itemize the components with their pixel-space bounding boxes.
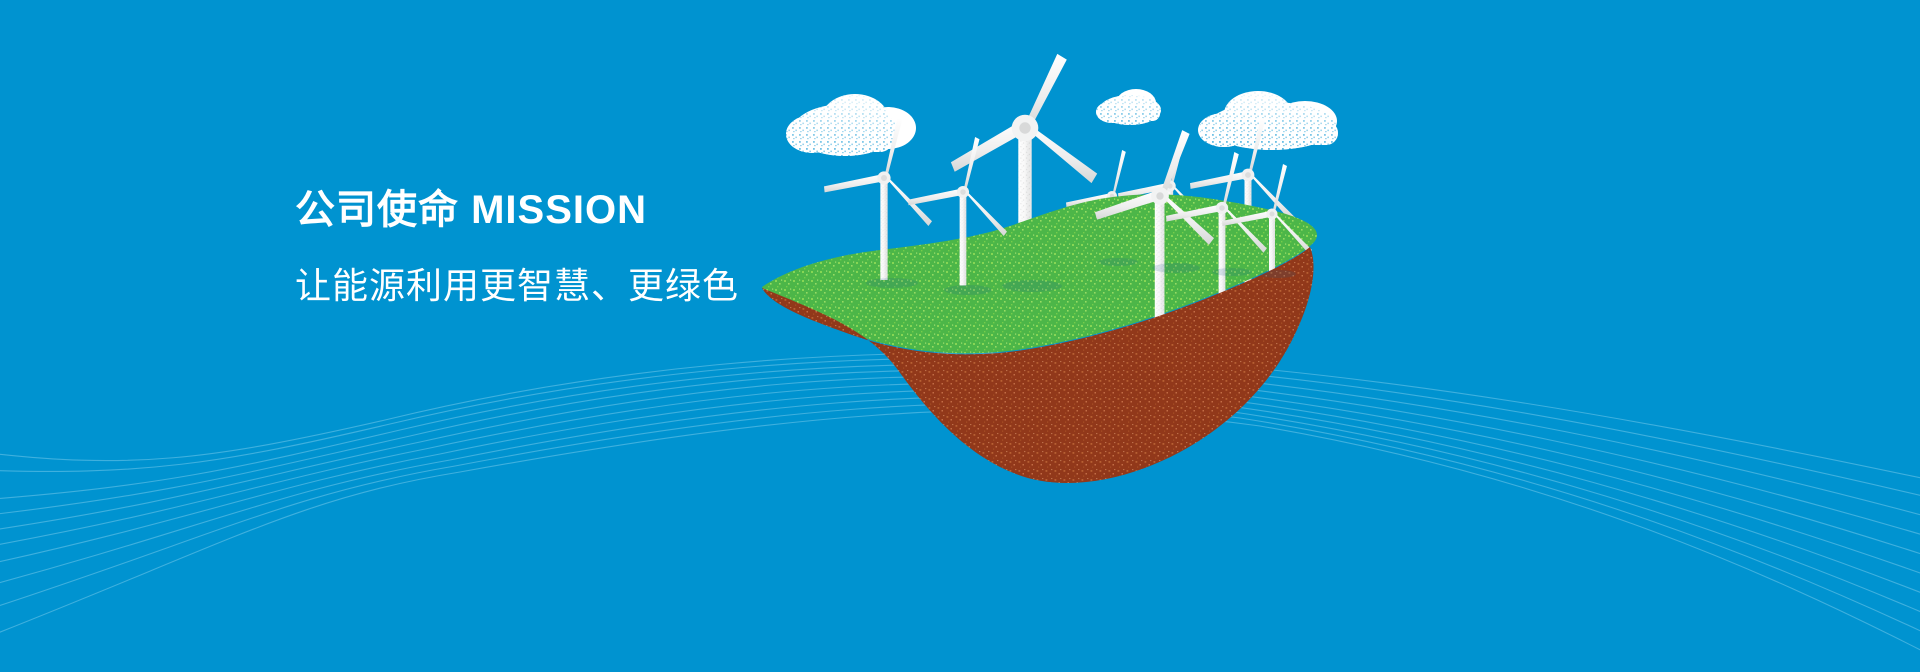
island-wind-farm-illustration [0, 0, 1920, 672]
cloud-icon-right [1198, 91, 1338, 150]
page-subtitle: 让能源利用更智慧、更绿色 [295, 264, 739, 307]
page-title: 公司使命 MISSION [295, 188, 739, 232]
cloud-icon-middle [1096, 89, 1161, 125]
mission-banner: 公司使命 MISSION 让能源利用更智慧、更绿色 [0, 0, 1920, 672]
banner-text-block: 公司使命 MISSION 让能源利用更智慧、更绿色 [295, 188, 739, 307]
